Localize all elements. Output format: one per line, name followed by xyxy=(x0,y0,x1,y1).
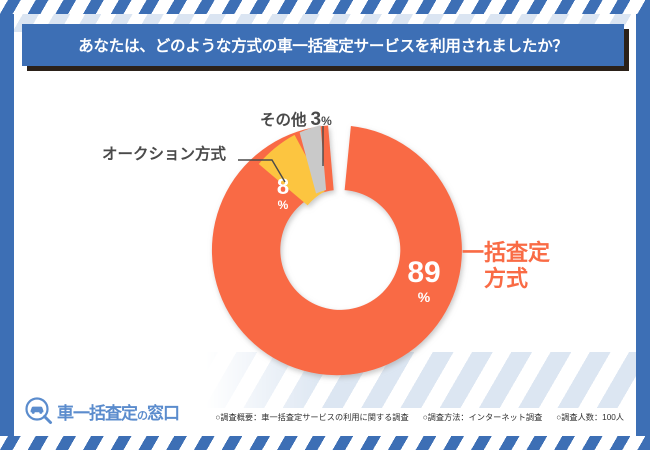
callout-label-ikkatsu: 一括査定 方式 xyxy=(462,240,550,292)
leader-line-auction xyxy=(238,150,298,190)
donut-chart-svg xyxy=(190,98,490,403)
site-logo-text: 車一括査定の窓口 xyxy=(57,399,179,424)
page-title: あなたは、どのような方式の車一括査定サービスを利用されましたか？ xyxy=(78,34,568,56)
footer-survey-notes: ○調査概要：車一括査定サービスの利用に関する調査 ○調査方法：インターネット調査… xyxy=(215,411,624,423)
slice-value-auction-percent: % xyxy=(266,199,300,211)
site-logo-text-small: の xyxy=(137,410,147,422)
callout-label-ikkatsu-line1: 一括査定 xyxy=(462,240,550,266)
header-banner: あなたは、どのような方式の車一括査定サービスを利用されましたか？ xyxy=(22,24,624,66)
slice-value-ikkatsu-number: 89 xyxy=(394,258,454,288)
magnifier-car-icon xyxy=(24,396,54,426)
site-logo-text-main2: 窓口 xyxy=(147,404,179,423)
frame-stripe-top xyxy=(0,0,650,14)
site-logo-text-main1: 車一括査定 xyxy=(57,404,137,423)
callout-label-ikkatsu-line2: 方式 xyxy=(462,266,550,292)
callout-label-auction: オークション方式 xyxy=(102,142,226,164)
donut-chart: 89 % 8 % オークション方式 その他3% 一括査定 方式 xyxy=(14,72,636,366)
footer-note-count: ○調査人数：100人 xyxy=(556,411,624,423)
site-logo[interactable]: 車一括査定の窓口 xyxy=(24,396,179,426)
slice-value-ikkatsu: 89 % xyxy=(394,258,454,304)
content-page: あなたは、どのような方式の車一括査定サービスを利用されましたか？ 89 % xyxy=(14,14,636,436)
footer-note-overview: ○調査概要：車一括査定サービスの利用に関する調査 xyxy=(215,411,408,423)
slice-value-ikkatsu-percent: % xyxy=(394,290,454,304)
callout-label-other-text: その他 xyxy=(260,112,307,129)
footer-note-method: ○調査方法：インターネット調査 xyxy=(423,411,543,423)
leader-line-other xyxy=(319,126,329,168)
footer: 車一括査定の窓口 ○調査概要：車一括査定サービスの利用に関する調査 ○調査方法：… xyxy=(14,374,636,436)
frame-stripe-bottom xyxy=(0,436,650,450)
